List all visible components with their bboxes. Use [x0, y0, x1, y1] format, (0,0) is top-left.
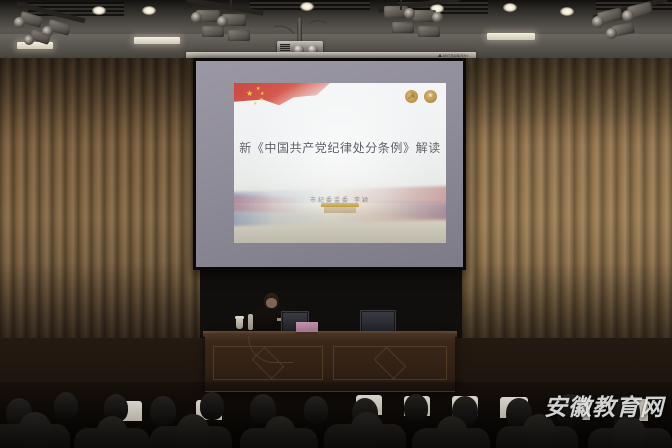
audience-head [18, 412, 52, 448]
curtain-left [0, 58, 200, 348]
lamp-lens [24, 35, 34, 45]
curtain-shading [462, 58, 672, 348]
lamp-lens [14, 17, 25, 28]
audience-head [304, 396, 328, 424]
gate-base [324, 207, 356, 213]
table-diamond-inlay [374, 347, 407, 380]
downlight [503, 3, 517, 12]
audience-head [612, 416, 646, 448]
speaker-face [266, 298, 277, 308]
lamp-lens [622, 10, 634, 22]
downlight [142, 6, 156, 15]
screen-surface: ★ ★ ★ ★ ★ 新《中国共产党纪律处分条例》解读 市纪委监委 李颖 · · … [196, 61, 463, 267]
panel-light [134, 37, 180, 44]
audience-head [404, 394, 428, 422]
audience-head [150, 396, 176, 426]
gate-dots-left: · · · [296, 208, 311, 212]
lamp-lens [432, 12, 443, 23]
downlight [560, 7, 574, 16]
water-bottle [248, 314, 253, 330]
lamp-lens [217, 16, 228, 27]
water-cup [236, 318, 243, 329]
audience-head [54, 392, 78, 420]
name-card [296, 322, 318, 332]
laptop-screen [362, 312, 394, 332]
audience-head [176, 414, 210, 448]
lamp-lens [191, 12, 202, 23]
mitsubishi-triangle-icon [438, 54, 442, 57]
audience-head [200, 392, 224, 420]
projection-screen: ★ ★ ★ ★ ★ 新《中国共产党纪律处分条例》解读 市纪委监委 李颖 · · … [193, 58, 466, 270]
curtain-shading [0, 58, 200, 348]
presentation-slide: ★ ★ ★ ★ ★ 新《中国共产党纪律处分条例》解读 市纪委监委 李颖 · · … [234, 83, 446, 243]
lamp-lens [606, 28, 617, 39]
projector-cable [306, 20, 330, 38]
slide-title: 新《中国共产党纪律处分条例》解读 [234, 139, 446, 156]
audience-head [350, 412, 384, 448]
lamp-lens [404, 8, 415, 19]
gate-dots-right: · · · [373, 208, 388, 212]
lamp-lens [592, 16, 604, 28]
tiananmen-gate-graphic [321, 203, 359, 213]
downlight [300, 2, 314, 11]
lecture-hall-photo: MITSUBISHI ★ ★ ★ ★ ★ 新《中国共产党纪律处分条例》解读 市纪… [0, 0, 672, 448]
projector-mount [297, 18, 302, 42]
panel-light [487, 33, 535, 40]
downlight [92, 6, 106, 15]
audience-head [556, 394, 584, 426]
audience-head [436, 416, 468, 448]
table-panel [333, 346, 447, 380]
audience-head [264, 416, 296, 448]
curtain-right [462, 58, 672, 348]
audience-head [96, 416, 128, 448]
audience-head [522, 414, 556, 448]
